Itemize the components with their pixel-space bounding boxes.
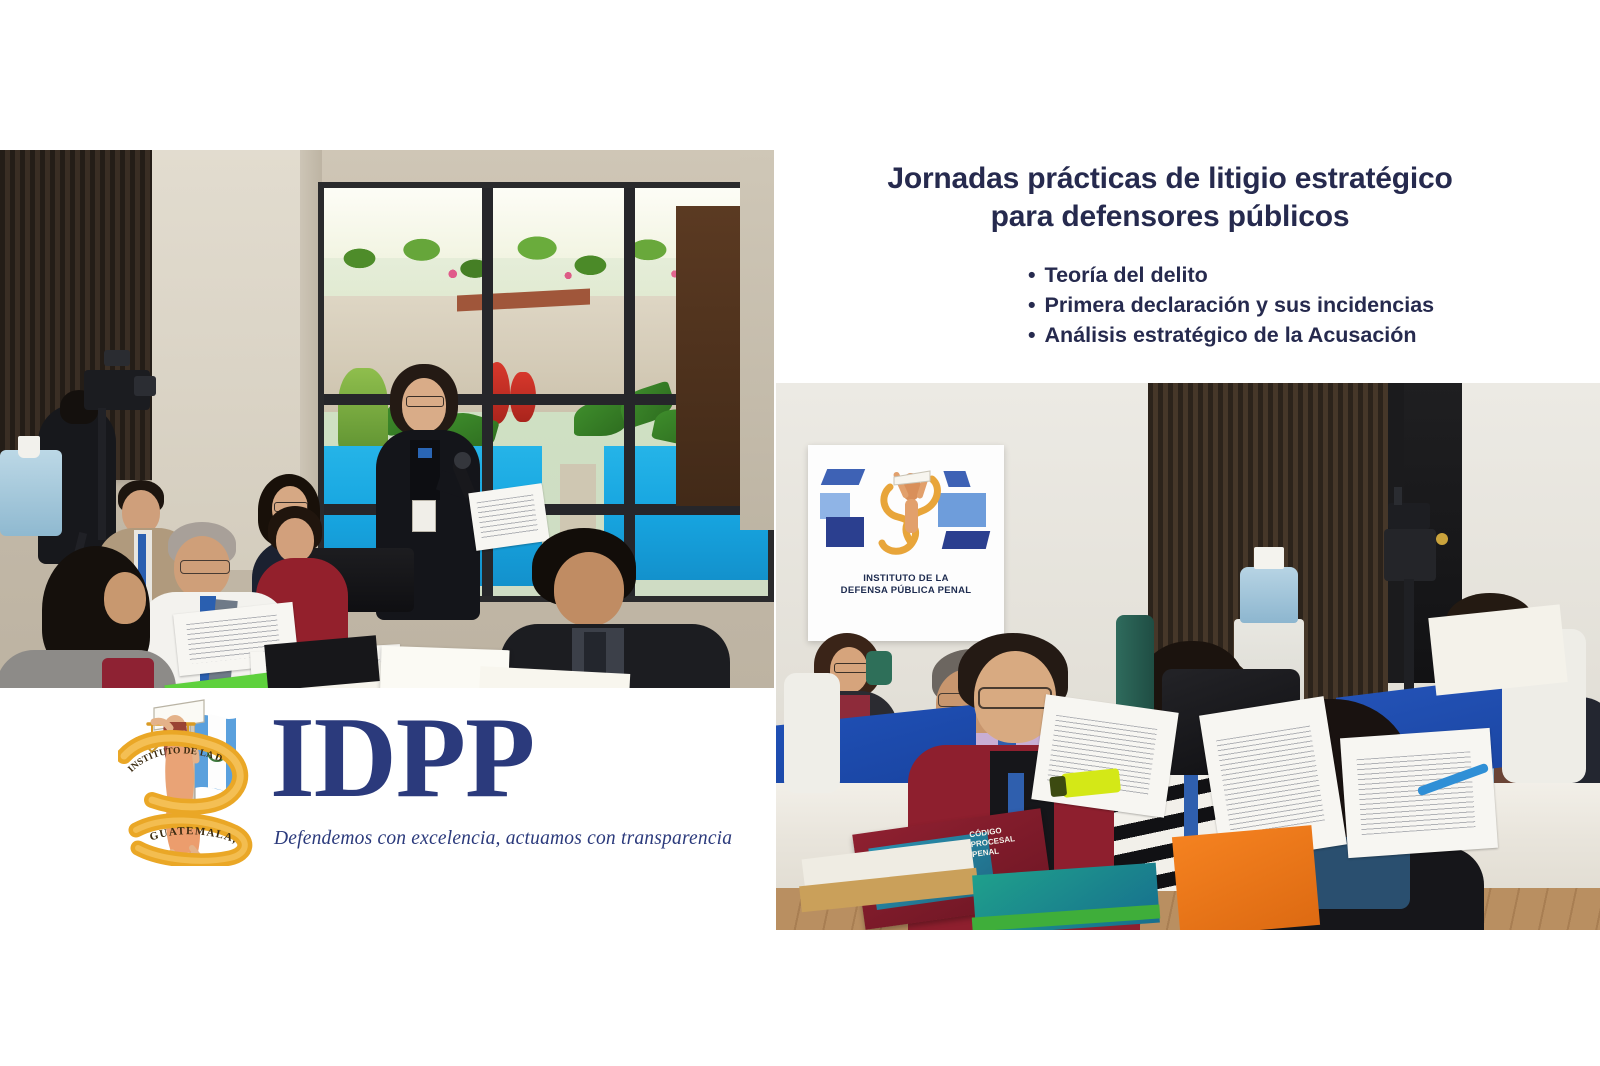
- paper-cup: [18, 436, 40, 458]
- idpp-logo-block: INSTITUTO DE LA DEFENSA PÚBLICA PENAL GU…: [118, 690, 648, 875]
- idpp-wordmark: IDPP: [270, 700, 650, 815]
- banner-emblem-icon: [874, 465, 948, 561]
- idpp-emblem-icon: INSTITUTO DE LA DEFENSA PÚBLICA PENAL GU…: [118, 694, 258, 866]
- banner-graphics: [818, 459, 994, 569]
- held-document: [468, 483, 549, 551]
- banner-text-line2: DEFENSA PÚBLICA PENAL: [808, 585, 1004, 597]
- headline-line-1: Jornadas prácticas de litigio estratégic…: [887, 162, 1452, 195]
- photo-right-working-group: INSTITUTO DE LA DEFENSA PÚBLICA PENAL: [776, 383, 1600, 930]
- right-wall-edge: [740, 150, 774, 530]
- document-sheet: [1031, 694, 1178, 818]
- spiral-notebook: [1428, 604, 1567, 695]
- headline-line-2: para defensores públicos: [991, 200, 1350, 233]
- topic-item: Primera declaración y sus incidencias: [1028, 290, 1550, 320]
- banner-text-line1: INSTITUTO DE LA: [808, 573, 1004, 585]
- topics-list: Teoría del delito Primera declaración y …: [790, 260, 1550, 350]
- doorway: [676, 206, 740, 506]
- white-chair-left: [784, 673, 840, 793]
- idpp-tagline: Defendemos con excelencia, actuamos con …: [274, 828, 654, 850]
- photo-left-training-session: [0, 150, 774, 688]
- topic-item: Análisis estratégico de la Acusación: [1028, 320, 1550, 350]
- slide-canvas: INSTITUTO DE LA DEFENSA PÚBLICA PENAL: [0, 0, 1600, 1066]
- title-and-topics-block: Jornadas prácticas de litigio estratégic…: [790, 160, 1550, 350]
- water-jug: [0, 450, 62, 536]
- black-binder: [264, 635, 380, 688]
- door-knob: [1436, 533, 1448, 545]
- banner-text: INSTITUTO DE LA DEFENSA PÚBLICA PENAL: [808, 573, 1004, 597]
- page-title: Jornadas prácticas de litigio estratégic…: [790, 160, 1550, 236]
- topic-item: Teoría del delito: [1028, 260, 1550, 290]
- idpp-banner: INSTITUTO DE LA DEFENSA PÚBLICA PENAL: [808, 445, 1004, 641]
- orange-folder: [1172, 825, 1320, 930]
